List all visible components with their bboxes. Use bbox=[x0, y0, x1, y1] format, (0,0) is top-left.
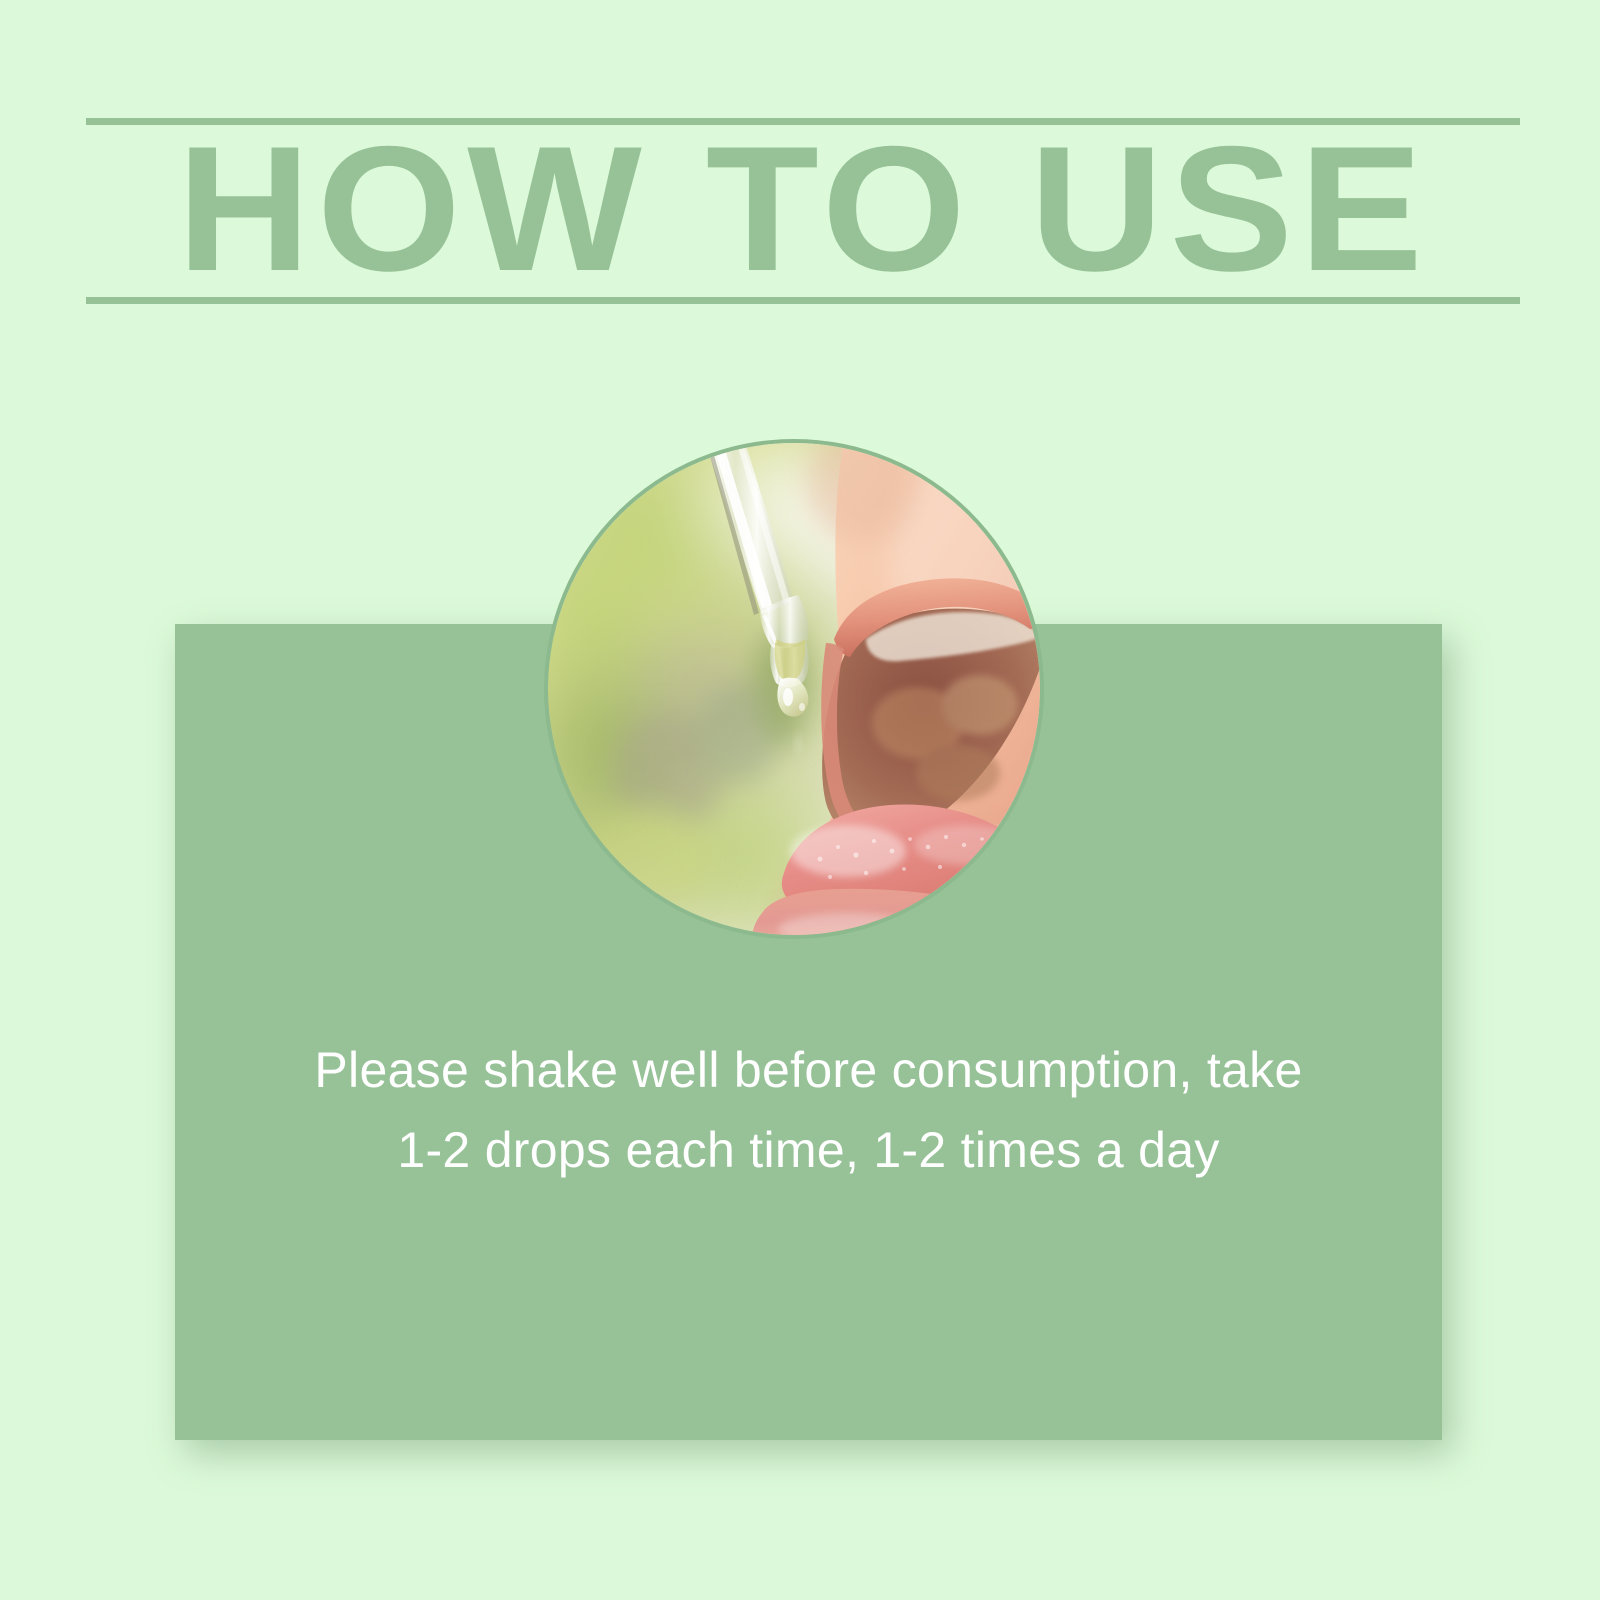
header: HOW TO USE bbox=[86, 112, 1520, 304]
dropper-mouth-photo bbox=[548, 443, 1040, 935]
dropper-mouth-illustration bbox=[548, 443, 1040, 935]
how-to-use-poster: HOW TO USE Please shake well before cons… bbox=[0, 0, 1600, 1600]
instruction-text: Please shake well before consumption, ta… bbox=[304, 1030, 1314, 1190]
page-title: HOW TO USE bbox=[57, 120, 1548, 298]
title-bottom-rule bbox=[86, 297, 1520, 304]
